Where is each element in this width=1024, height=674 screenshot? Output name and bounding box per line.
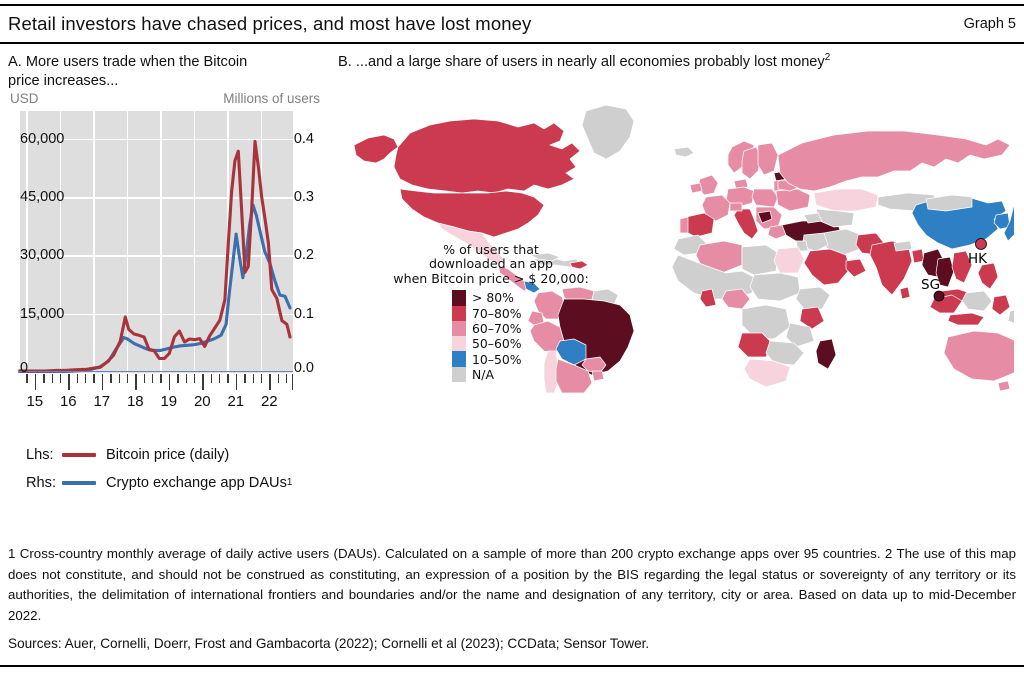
legend-item-bitcoin-price: Lhs: Bitcoin price (daily) xyxy=(26,441,292,469)
legend-item-crypto-dau: Rhs: Crypto exchange app DAUs1 xyxy=(26,469,292,497)
ytick-right-00: 0.0 xyxy=(294,360,314,376)
xlabel-22: 22 xyxy=(261,393,278,410)
ytick-left-30000: 30,000 xyxy=(20,247,64,263)
country-russia xyxy=(778,131,1010,191)
map-legend-label-above-80: > 80% xyxy=(472,290,514,305)
sg-city-label: SG xyxy=(921,277,940,293)
country-poland xyxy=(752,189,778,207)
map-legend-label-50-60: 50–60% xyxy=(472,336,522,351)
map-legend-item-na: N/A xyxy=(452,367,596,382)
legend-axis-side: Lhs: xyxy=(26,447,62,463)
legend-swatch-crypto-dau xyxy=(62,481,96,485)
map-legend-title-line2: downloaded an app xyxy=(429,256,553,271)
panel-a-title-line2: price increases... xyxy=(8,73,118,89)
map-swatch-10-50 xyxy=(452,351,466,366)
sources-text: Sources: Auer, Cornelli, Doerr, Frost an… xyxy=(8,636,1016,651)
map-legend-item-70-80: 70–80% xyxy=(452,306,596,321)
ytick-left-15000: 15,000 xyxy=(20,306,64,322)
map-legend-label-70-80: 70–80% xyxy=(472,306,522,321)
ytick-right-01: 0.1 xyxy=(294,306,314,322)
country-egypt xyxy=(774,247,804,273)
map-swatch-na xyxy=(452,367,466,382)
xlabel-16: 16 xyxy=(60,393,77,410)
country-uae-oman xyxy=(846,259,866,277)
chart-x-axis xyxy=(18,374,293,394)
country-alps-region xyxy=(730,203,742,211)
footnotes-text: 1 Cross-country monthly average of daily… xyxy=(8,544,1016,626)
graph-body: USD Millions of users xyxy=(0,91,1024,511)
country-libya xyxy=(742,245,778,275)
country-iceland xyxy=(674,147,694,157)
left-axis-unit-label: USD xyxy=(10,91,39,106)
country-italy xyxy=(734,209,758,239)
map-legend: % of users that downloaded an app when B… xyxy=(386,243,596,383)
legend-label-crypto-dau: Crypto exchange app DAUs xyxy=(106,475,287,491)
country-bangladesh xyxy=(912,249,924,263)
country-canada xyxy=(394,119,580,193)
footnotes-block: 1 Cross-country monthly average of daily… xyxy=(8,544,1016,626)
map-legend-item-10-50: 10–50% xyxy=(452,351,596,366)
hk-marker-icon xyxy=(976,238,987,249)
xlabel-15: 15 xyxy=(26,393,43,410)
xlabel-20: 20 xyxy=(194,393,211,410)
panel-b-title: B. ...and a large share of users in near… xyxy=(338,53,1016,91)
map-swatch-50-60 xyxy=(452,336,466,351)
legend-label-bitcoin-price: Bitcoin price (daily) xyxy=(106,447,229,463)
map-legend-item-above-80: > 80% xyxy=(452,290,596,305)
map-legend-label-10-50: 10–50% xyxy=(472,352,522,367)
country-indonesia-java xyxy=(948,313,984,325)
panel-a-title: A. More users trade when the Bitcoin pri… xyxy=(8,53,338,91)
map-legend-items: > 80% 70–80% 60–70% 50–60% 10–50% xyxy=(386,290,596,382)
country-sudan-chad xyxy=(750,273,800,301)
chart-legend: Lhs: Bitcoin price (daily) Rhs: Crypto e… xyxy=(26,441,292,497)
country-saudi-arabia xyxy=(804,249,850,285)
ytick-right-03: 0.3 xyxy=(294,189,314,205)
country-australia xyxy=(944,331,1014,381)
ytick-left-45000: 45,000 xyxy=(20,189,64,205)
panel-b-map: HK SG % of users that downloaded an app … xyxy=(338,91,1016,511)
graph-header: Retail investors have chased prices, and… xyxy=(0,6,1024,42)
country-sri-lanka xyxy=(900,287,910,299)
country-greenland xyxy=(582,105,634,159)
country-ethiopia xyxy=(796,287,830,309)
map-legend-label-na: N/A xyxy=(472,367,494,382)
hk-city-label: HK xyxy=(968,251,988,267)
map-legend-item-60-70: 60–70% xyxy=(452,321,596,336)
bottom-divider xyxy=(0,665,1024,667)
chart-plot-wrapper: 60,000 45,000 30,000 15,000 0 0.4 0.3 0.… xyxy=(8,111,330,373)
right-axis-unit-label: Millions of users xyxy=(223,91,320,106)
country-kazakhstan xyxy=(814,189,878,211)
legend-swatch-bitcoin-price xyxy=(62,453,96,457)
chart-zero-baseline xyxy=(18,371,293,372)
country-ireland xyxy=(690,183,702,193)
map-swatch-70-80 xyxy=(452,306,466,321)
map-swatch-above-80 xyxy=(452,290,466,305)
chart-series-canvas xyxy=(18,111,293,373)
xlabel-18: 18 xyxy=(127,393,144,410)
page-title: Retail investors have chased prices, and… xyxy=(8,13,531,35)
map-legend-item-50-60: 50–60% xyxy=(452,336,596,351)
ytick-right-02: 0.2 xyxy=(294,247,314,263)
xlabel-21: 21 xyxy=(227,393,244,410)
country-portugal xyxy=(680,217,688,233)
axis-unit-row: USD Millions of users xyxy=(8,91,338,111)
panel-b-title-text: B. ...and a large share of users in near… xyxy=(338,54,825,70)
legend-axis-side: Rhs: xyxy=(26,475,62,491)
map-legend-title-line3: when Bitcoin price > $ 20,000: xyxy=(393,271,588,286)
xlabel-19: 19 xyxy=(160,393,177,410)
country-papua-new-guinea xyxy=(1008,309,1014,325)
graph-number-label: Graph 5 xyxy=(964,16,1016,32)
chart-x-labels: 15 16 17 18 19 20 21 22 xyxy=(18,393,293,415)
panel-b-title-footnote-marker: 2 xyxy=(825,52,831,63)
country-madagascar xyxy=(816,339,836,369)
ytick-right-04: 0.4 xyxy=(294,131,314,147)
map-swatch-60-70 xyxy=(452,321,466,336)
country-ukraine xyxy=(776,189,810,211)
country-indonesia-borneo xyxy=(962,291,992,311)
country-nepal-bhutan xyxy=(894,241,912,251)
panel-a-title-line1: A. More users trade when the Bitcoin xyxy=(8,54,247,70)
map-legend-label-60-70: 60–70% xyxy=(472,321,522,336)
panel-a-chart: USD Millions of users xyxy=(8,91,338,511)
country-finland xyxy=(758,143,778,175)
country-alaska xyxy=(354,135,398,163)
country-tasmania xyxy=(998,381,1010,391)
xlabel-17: 17 xyxy=(93,393,110,410)
chart-plot-area xyxy=(18,111,293,373)
panel-titles-row: A. More users trade when the Bitcoin pri… xyxy=(0,44,1024,91)
ytick-left-60000: 60,000 xyxy=(20,131,64,147)
country-indonesia-sulawesi xyxy=(992,295,1010,315)
map-legend-title: % of users that downloaded an app when B… xyxy=(386,243,596,287)
map-legend-title-line1: % of users that xyxy=(443,242,539,257)
country-united-kingdom xyxy=(698,175,718,195)
country-united-states xyxy=(400,189,544,237)
